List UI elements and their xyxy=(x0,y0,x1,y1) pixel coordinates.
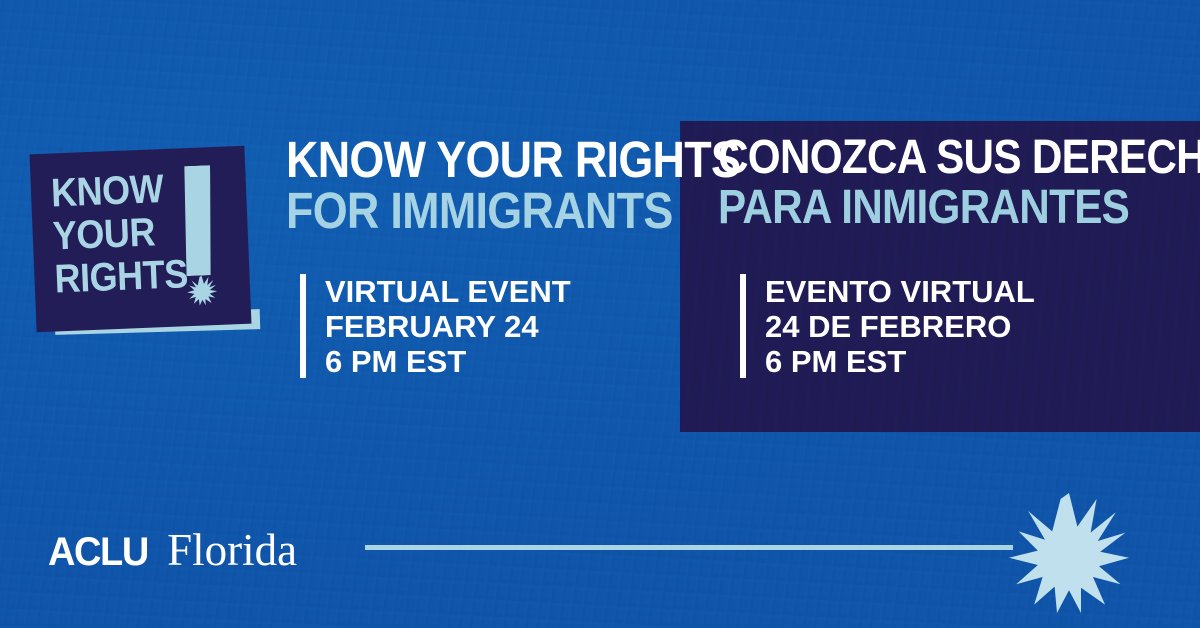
english-detail-line-3: 6 PM EST xyxy=(325,344,571,379)
logo-line-2: YOUR xyxy=(52,212,156,256)
spanish-accent-bar xyxy=(740,274,746,378)
footer-divider-rule xyxy=(365,545,1013,550)
english-headline-line-2: FOR IMMIGRANTS xyxy=(286,187,620,234)
exclamation-bar-icon xyxy=(182,165,214,276)
spanish-headline-block: CONOZCA SUS DERECHOS PARA INMIGRANTES xyxy=(718,136,1188,230)
spanish-detail-line-3: 6 PM EST xyxy=(765,344,1035,379)
spanish-headline-line-2: PARA INMIGRANTES xyxy=(718,186,1132,231)
poster-canvas: KNOW YOUR RIGHTS KNOW YOUR RIGHTS FOR IM… xyxy=(0,0,1200,628)
spanish-detail-line-2: 24 DE FEBRERO xyxy=(765,309,1035,344)
english-headline-line-1: KNOW YOUR RIGHTS xyxy=(286,136,620,183)
starburst-icon xyxy=(1009,493,1129,613)
spanish-event-details: EVENTO VIRTUAL 24 DE FEBRERO 6 PM EST xyxy=(740,274,1035,379)
english-event-details: VIRTUAL EVENT FEBRUARY 24 6 PM EST xyxy=(300,274,571,379)
english-detail-line-1: VIRTUAL EVENT xyxy=(325,274,571,309)
aclu-wordmark: ACLU xyxy=(48,530,148,575)
english-headline-block: KNOW YOUR RIGHTS FOR IMMIGRANTS xyxy=(286,136,666,235)
logo-box: KNOW YOUR RIGHTS xyxy=(30,146,252,332)
spanish-detail-line-1: EVENTO VIRTUAL xyxy=(765,274,1035,309)
spanish-headline-line-1: CONOZCA SUS DERECHOS xyxy=(718,136,1132,181)
logo-line-3: RIGHTS xyxy=(54,254,189,299)
aclu-florida-logo: ACLU Florida xyxy=(48,524,297,576)
know-your-rights-logo: KNOW YOUR RIGHTS xyxy=(33,145,263,360)
english-accent-bar xyxy=(300,274,306,378)
starburst-icon xyxy=(187,275,218,306)
affiliate-name: Florida xyxy=(167,524,297,576)
logo-line-1: KNOW xyxy=(50,169,164,213)
english-detail-line-2: FEBRUARY 24 xyxy=(325,309,571,344)
